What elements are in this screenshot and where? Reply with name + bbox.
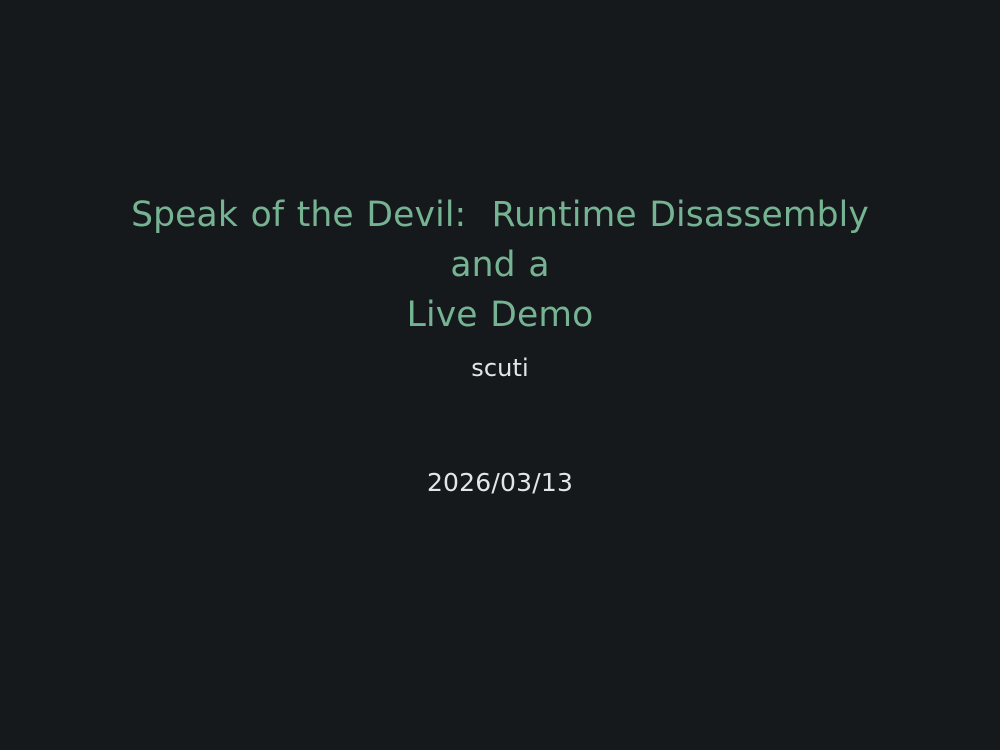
author-block: scuti [0, 352, 1000, 384]
title-slide: Speak of the Devil: Runtime Disassembly … [0, 0, 1000, 750]
presentation-date: 2026/03/13 [427, 466, 573, 500]
page-title: Speak of the Devil: Runtime Disassembly … [105, 190, 895, 340]
title-block: Speak of the Devil: Runtime Disassembly … [0, 190, 1000, 340]
author-name: scuti [471, 352, 529, 384]
date-block: 2026/03/13 [0, 466, 1000, 500]
